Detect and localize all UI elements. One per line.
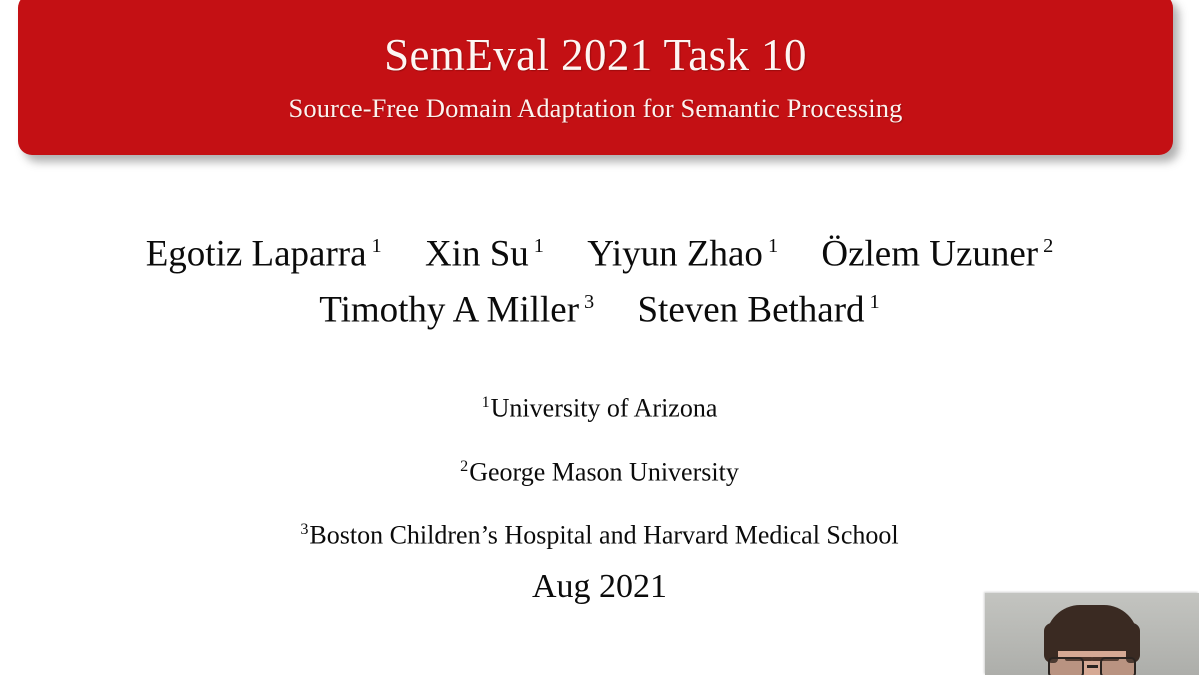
slide-subtitle: Source-Free Domain Adaptation for Semant…	[289, 94, 903, 123]
affiliation-marker: 3	[300, 521, 308, 538]
author-affiliation-marker: 3	[584, 291, 594, 313]
affiliation-marker: 1	[482, 394, 490, 411]
presenter-glasses	[1046, 657, 1138, 675]
author-timothy-a-miller: Timothy A Miller3	[319, 278, 594, 334]
author-name: Steven Bethard	[637, 290, 864, 331]
author-affiliation-marker: 1	[372, 235, 382, 257]
presenter-hair	[1046, 605, 1138, 651]
title-banner: SemEval 2021 Task 10 Source-Free Domain …	[18, 0, 1173, 155]
author-name: Özlem Uzuner	[821, 233, 1038, 274]
affiliation-name: Boston Children’s Hospital and Harvard M…	[309, 521, 898, 550]
authors-block: Egotiz Laparra1 Xin Su1 Yiyun Zhao1 Özle…	[0, 222, 1199, 335]
presenter-webcam-overlay[interactable]	[985, 593, 1199, 675]
affiliation-university-of-arizona: 1University of Arizona	[0, 374, 1199, 438]
affiliation-name: George Mason University	[469, 457, 739, 486]
affiliation-name: University of Arizona	[491, 394, 718, 423]
glasses-lens-left	[1048, 657, 1084, 675]
author-yiyun-zhao: Yiyun Zhao1	[587, 222, 778, 278]
affiliation-george-mason-university: 2George Mason University	[0, 438, 1199, 502]
author-affiliation-marker: 1	[534, 235, 544, 257]
glasses-lens-right	[1100, 657, 1136, 675]
author-affiliation-marker: 1	[870, 291, 880, 313]
author-name: Xin Su	[425, 233, 529, 274]
slide-title: SemEval 2021 Task 10	[384, 32, 807, 79]
author-line: Timothy A Miller3 Steven Bethard1	[0, 278, 1199, 334]
author-steven-bethard: Steven Bethard1	[637, 278, 879, 334]
author-xin-su: Xin Su1	[425, 222, 544, 278]
author-ozlem-uzuner: Özlem Uzuner2	[821, 222, 1053, 278]
author-name: Timothy A Miller	[319, 290, 579, 331]
glasses-bridge	[1087, 665, 1098, 668]
affiliations-block: 1University of Arizona 2George Mason Uni…	[0, 374, 1199, 565]
author-name: Yiyun Zhao	[587, 233, 763, 274]
affiliation-marker: 2	[460, 458, 468, 475]
presentation-slide: SemEval 2021 Task 10 Source-Free Domain …	[0, 0, 1199, 675]
author-affiliation-marker: 1	[768, 235, 778, 257]
author-line: Egotiz Laparra1 Xin Su1 Yiyun Zhao1 Özle…	[0, 222, 1199, 278]
presenter-portrait	[1033, 605, 1151, 675]
affiliation-boston-childrens-hospital: 3Boston Children’s Hospital and Harvard …	[0, 501, 1199, 565]
author-egotiz-laparra: Egotiz Laparra1	[146, 222, 382, 278]
author-name: Egotiz Laparra	[146, 233, 367, 274]
author-affiliation-marker: 2	[1043, 235, 1053, 257]
